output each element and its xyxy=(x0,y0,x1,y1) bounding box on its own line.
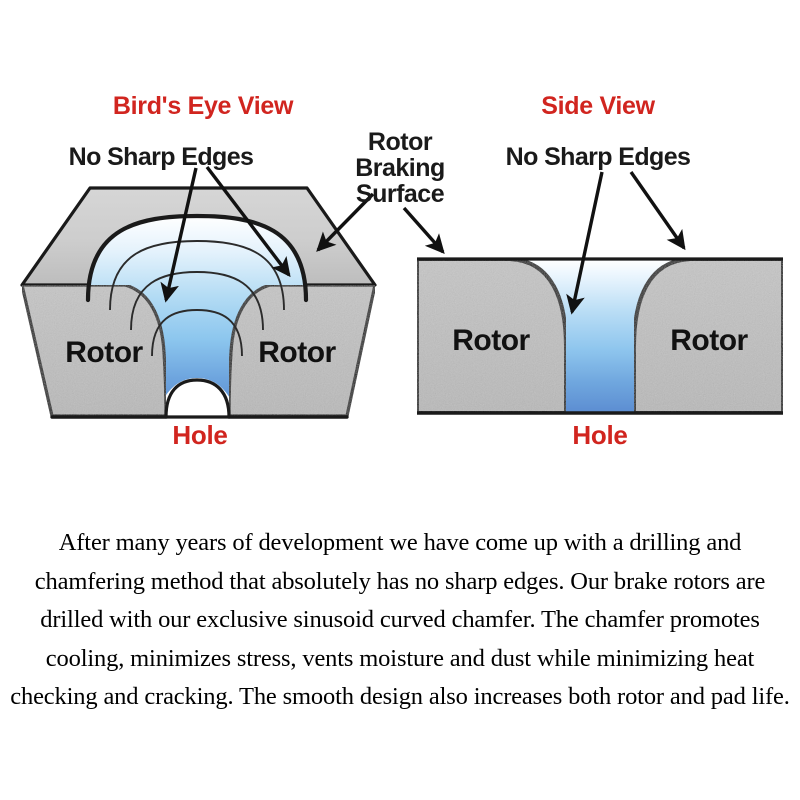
sideview-arrow-no-sharp-edges-right xyxy=(631,172,684,248)
sideview-no-sharp-edges-label: No Sharp Edges xyxy=(506,143,691,171)
sideview-arrow-braking-surface xyxy=(404,208,443,252)
birdseye-hole-label: Hole xyxy=(172,420,227,450)
birdseye-rotor-right-label: Rotor xyxy=(258,336,336,369)
sideview-hole-label: Hole xyxy=(572,420,627,450)
sideview-title: Side View xyxy=(541,92,655,120)
sideview-rotor-right-label: Rotor xyxy=(670,324,748,357)
rotor-braking-surface-line3: Surface xyxy=(356,180,445,208)
birdseye-rotor-left-label: Rotor xyxy=(65,336,143,369)
rotor-braking-surface-line2: Braking xyxy=(355,154,445,182)
diagram-page: Bird's Eye View No Sharp Edges Rotor Bra… xyxy=(0,0,800,800)
rotor-braking-surface-label: Rotor Braking Surface xyxy=(355,128,445,208)
rotor-braking-surface-line1: Rotor xyxy=(368,128,433,156)
sideview-rotor-left-label: Rotor xyxy=(452,324,530,357)
birdseye-title: Bird's Eye View xyxy=(113,92,294,120)
birdseye-no-sharp-edges-label: No Sharp Edges xyxy=(69,143,254,171)
description-paragraph: After many years of development we have … xyxy=(0,524,800,717)
